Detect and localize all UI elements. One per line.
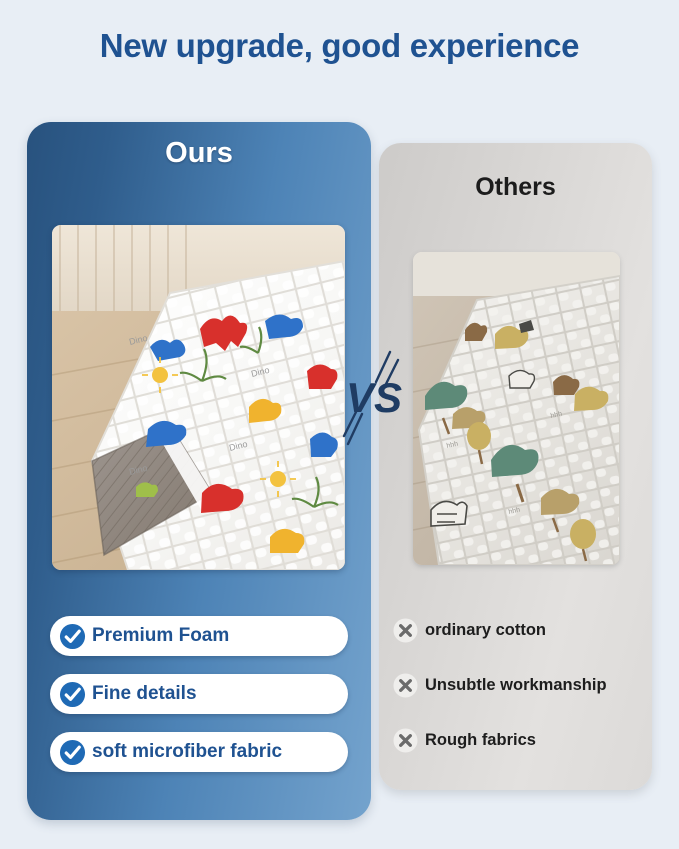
con-label: ordinary cotton bbox=[425, 621, 546, 640]
page-title: New upgrade, good experience bbox=[0, 27, 679, 65]
x-circle-icon bbox=[393, 673, 418, 698]
x-circle-icon bbox=[393, 618, 418, 643]
others-heading: Others bbox=[379, 173, 652, 202]
x-circle-icon bbox=[393, 728, 418, 753]
con-row-ordinary-cotton: ordinary cotton bbox=[393, 618, 546, 643]
feature-pill-soft-microfiber-fabric[interactable]: soft microfiber fabric bbox=[50, 732, 348, 772]
check-circle-icon bbox=[59, 739, 86, 766]
others-product-photo: hhh hhh hhh bbox=[413, 252, 620, 565]
feature-pill-premium-foam[interactable]: Premium Foam bbox=[50, 616, 348, 656]
feature-label: soft microfiber fabric bbox=[92, 741, 282, 763]
feature-label: Premium Foam bbox=[92, 625, 229, 647]
con-label: Unsubtle workmanship bbox=[425, 676, 607, 695]
feature-pill-fine-details[interactable]: Fine details bbox=[50, 674, 348, 714]
ours-product-photo: Dino Dino Dino Dino bbox=[52, 225, 345, 570]
check-circle-icon bbox=[59, 681, 86, 708]
con-row-rough-fabrics: Rough fabrics bbox=[393, 728, 536, 753]
con-label: Rough fabrics bbox=[425, 731, 536, 750]
ours-heading: Ours bbox=[27, 137, 371, 170]
con-row-unsubtle-workmanship: Unsubtle workmanship bbox=[393, 673, 607, 698]
feature-label: Fine details bbox=[92, 683, 197, 705]
check-circle-icon bbox=[59, 623, 86, 650]
